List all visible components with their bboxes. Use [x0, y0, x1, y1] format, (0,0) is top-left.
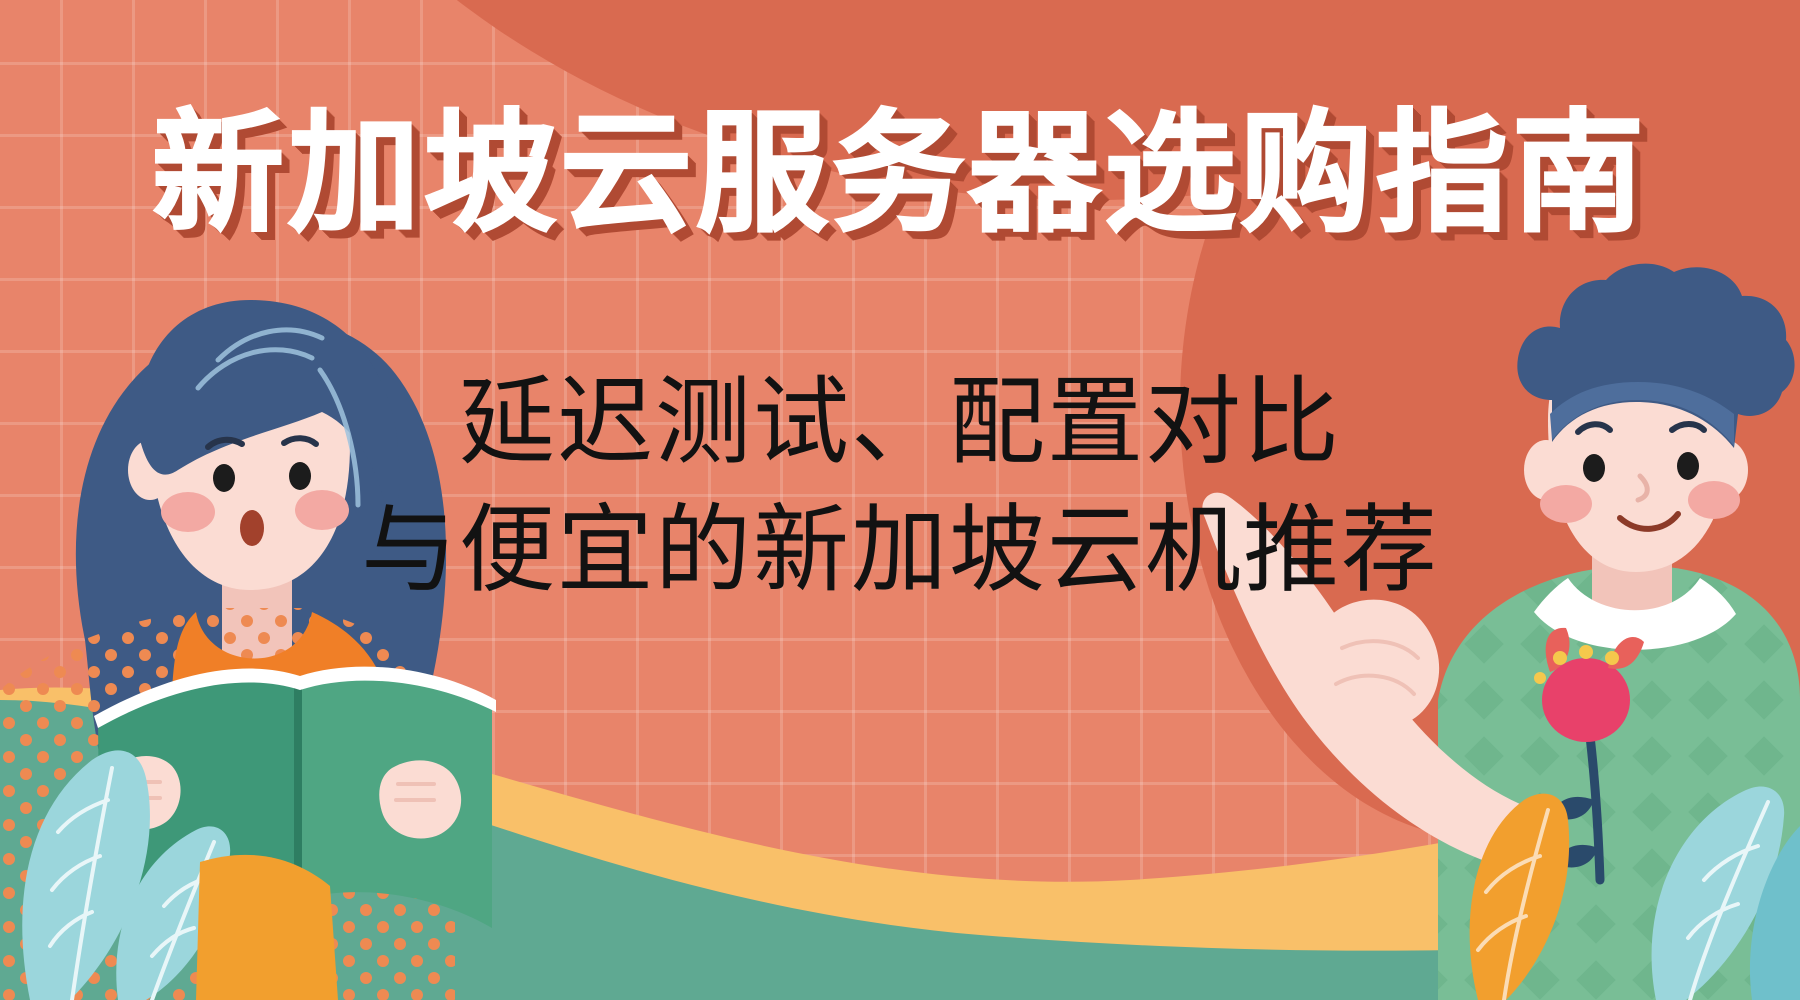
- poster-canvas: 新加坡云服务器选购指南 延迟测试、配置对比 与便宜的新加坡云机推荐: [0, 0, 1800, 1000]
- subtitle-line-2: 与便宜的新加坡云机推荐: [0, 492, 1800, 609]
- subtitle-line-1: 延迟测试、配置对比: [0, 364, 1800, 481]
- page-title: 新加坡云服务器选购指南: [0, 108, 1800, 240]
